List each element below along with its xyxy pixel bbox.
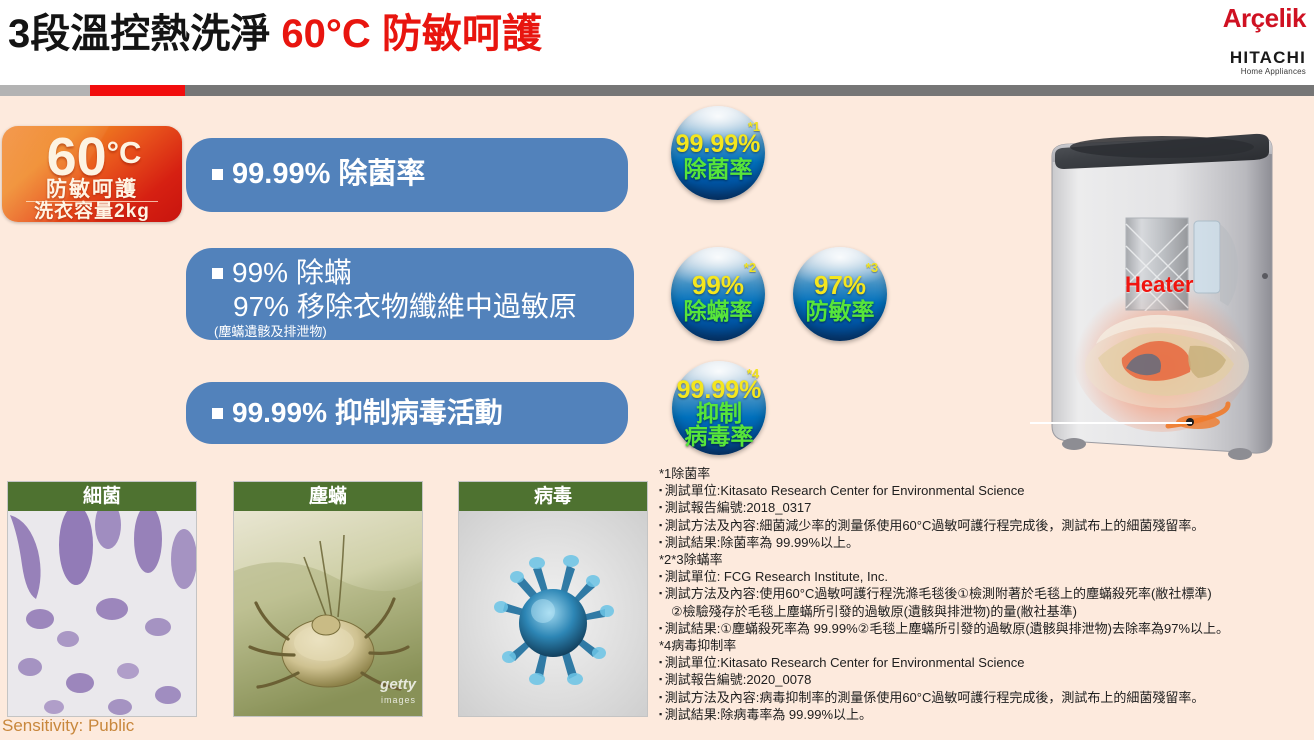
claim-2-label-1: 99% 除蟎 [232,257,352,288]
footnote-line: *4病毒抑制率 [659,637,1314,654]
specimen-card-virus: 病毒 [458,481,648,717]
orb-4-label-2: 病毒率 [672,424,766,449]
brand-block: Arçelik HITACHI Home Appliances [1156,4,1306,77]
footnote-line: 測試單位: FCG Research Institute, Inc. [659,568,1314,585]
badge-subtitle-2: 洗衣容量2kg [2,200,182,222]
claim-box-mite-removal: 99% 除蟎 97% 移除衣物纖維中過敏原 (塵蟎遺骸及排泄物) [186,248,634,340]
bacteria-photo [8,511,196,717]
divider-segment-gray-right [185,85,1314,96]
claim-2-line-1: 99% 除蟎 [212,254,352,292]
dust-mite-photo: getty images [234,511,422,717]
orb-3-percent: 97% [793,271,887,300]
footnote-line: 測試結果:除病毒率為 99.99%以上。 [659,706,1314,723]
page-title-black: 3段溫控熱洗淨 [8,12,281,56]
footnote-line: 測試結果:除菌率為 99.99%以上。 [659,534,1314,551]
claim-2-line-2: 97% 移除衣物纖維中過敏原 [233,288,577,326]
claim-1-text: 99.99% 除菌率 [212,154,425,194]
svg-text:images: images [381,695,416,705]
divider-segment-gray-left [0,85,90,96]
footnote-line: 測試結果:①塵蟎殺死率為 99.99%②毛毯上塵蟎所引發的過敏原(遺骸與排泄物)… [659,620,1314,637]
claim-box-virus-suppression: 99.99% 抑制病毒活動 [186,382,628,444]
orb-3-label: 防敏率 [793,298,887,324]
footnote-line: 測試方法及內容:使用60°C過敏呵護行程洗滌毛毯後①檢測附著於毛毯上的塵蟎殺死率… [659,585,1314,602]
square-bullet-icon [212,169,223,180]
svg-text:getty: getty [379,676,416,693]
claim-box-sterilization: 99.99% 除菌率 [186,138,628,212]
hitachi-logo: HITACHI [1156,49,1306,67]
temperature-badge: 60°C 防敏呵護 洗衣容量2kg [2,126,182,222]
orb-badge-sterilization: *1 99.99% 除菌率 [671,106,765,200]
arcelik-logo: Arçelik [1156,4,1306,32]
footnote-line: 測試單位:Kitasato Research Center for Enviro… [659,654,1314,671]
square-bullet-icon [212,408,223,419]
hitachi-tagline: Home Appliances [1156,67,1306,77]
claim-3-label: 99.99% 抑制病毒活動 [232,397,503,428]
footnote-line: ②檢驗殘存於毛毯上塵蟎所引發的過敏原(遺骸與排泄物)的量(敝社基準) [659,603,1314,620]
slide-header: 3段溫控熱洗淨 60°C 防敏呵護 Arçelik HITACHI Home A… [0,0,1314,92]
footnote-line: 測試報告編號:2020_0078 [659,671,1314,688]
virus-photo [459,511,647,717]
footnote-line: 測試方法及內容:細菌減少率的測量係使用60°C過敏呵護行程完成後，測試布上的細菌… [659,517,1314,534]
footnote-line: *2*3除蟎率 [659,551,1314,568]
sensitivity-label: Sensitivity: Public [2,715,134,737]
bacteria-photo-svg [8,511,196,717]
footnote-line: 測試報告編號:2018_0317 [659,499,1314,516]
orb-1-percent: 99.99% [671,130,765,158]
divider-segment-red [90,85,185,96]
orb-2-percent: 99% [671,271,765,300]
badge-subtitle-1: 防敏呵護 [2,178,182,202]
specimen-card-title: 病毒 [459,482,647,511]
specimen-card-title: 塵蟎 [234,482,422,511]
temperature-value: 60°C [8,126,180,186]
footnote-line: *1除菌率 [659,465,1314,482]
footnote-line: 測試方法及內容:病毒抑制率的測量係使用60°C過敏呵護行程完成後，測試布上的細菌… [659,689,1314,706]
orb-badge-virus-suppression: *4 99.99% 抑制 病毒率 [672,361,766,455]
claim-1-label: 99.99% 除菌率 [232,158,425,190]
degree-symbol: °C [107,135,142,170]
orb-badge-mite-removal: *2 99% 除蟎率 [671,247,765,341]
footnote-line: 測試單位:Kitasato Research Center for Enviro… [659,482,1314,499]
claim-3-text: 99.99% 抑制病毒活動 [212,393,503,433]
orb-2-label: 除蟎率 [671,298,765,324]
heater-label: Heater [1125,272,1193,298]
footnotes-block: *1除菌率測試單位:Kitasato Research Center for E… [659,465,1314,723]
orb-1-label: 除菌率 [671,156,765,182]
specimen-card-dust-mite: 塵蟎 [233,481,423,717]
orb-badge-antiallergy: *3 97% 防敏率 [793,247,887,341]
divider-bar [0,85,1314,96]
virus-photo-svg [459,511,647,717]
page-title: 3段溫控熱洗淨 60°C 防敏呵護 [8,8,542,60]
square-bullet-icon [212,268,223,279]
specimen-card-bacteria: 細菌 [7,481,197,717]
specimen-card-title: 細菌 [8,482,196,511]
dust-mite-photo-svg: getty images [234,511,422,717]
page-title-red: 60°C 防敏呵護 [281,12,542,56]
claim-2-note: (塵蟎遺骸及排泄物) [214,324,327,339]
